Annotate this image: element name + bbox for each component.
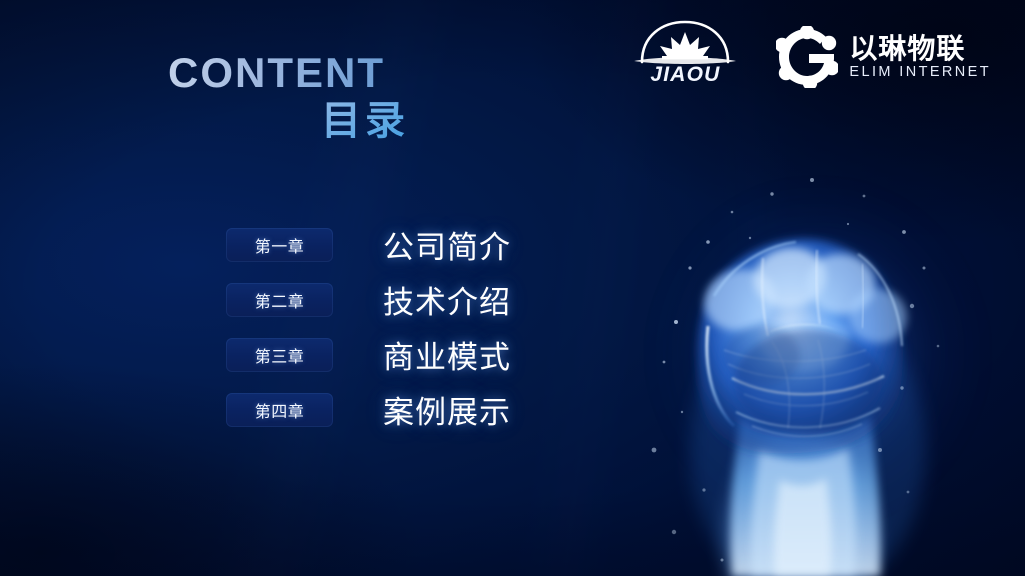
page-title-english: CONTENT [168,52,588,94]
arch-sunburst-icon [632,18,738,68]
chapter-badge-label-2: 第二章 [255,288,305,312]
chapter-badge-4[interactable]: 第四章 [226,393,333,427]
logo-elim-name-en: ELIM INTERNET [849,65,991,80]
logo-elim-name-cn: 以琳物联 [849,35,991,63]
slide-heading: CONTENT 目录 [168,52,588,142]
chapter-badge-1[interactable]: 第一章 [226,228,333,262]
chapter-badge-3[interactable]: 第三章 [226,338,333,372]
chapter-badge-label-1: 第一章 [255,233,305,257]
toc-item-1[interactable]: 第一章 公司简介 [226,217,511,272]
table-of-contents: 第一章 公司简介 第二章 技术介绍 第三章 商业模式 第四章 案例展示 [226,217,511,437]
chapter-title-2[interactable]: 技术介绍 [383,277,511,322]
logo-jiaou: JIAOU [632,18,738,96]
molecular-g-icon [776,26,838,88]
logo-elim: 以琳物联 ELIM INTERNET [776,26,991,88]
toc-item-3[interactable]: 第三章 商业模式 [226,327,511,382]
logo-jiaou-wordmark: JIAOU [632,63,738,87]
chapter-badge-label-4: 第四章 [255,398,305,422]
chapter-badge-label-3: 第三章 [255,343,305,367]
page-title-chinese: 目录 [168,100,588,142]
chapter-badge-2[interactable]: 第二章 [226,283,333,317]
toc-item-2[interactable]: 第二章 技术介绍 [226,272,511,327]
logo-bar: JIAOU 以琳物联 ELIM INTERNET [632,18,991,96]
logo-elim-text: 以琳物联 ELIM INTERNET [849,35,991,80]
toc-item-4[interactable]: 第四章 案例展示 [226,382,511,437]
chapter-title-1[interactable]: 公司简介 [383,222,511,267]
chapter-title-4[interactable]: 案例展示 [383,387,511,432]
presentation-slide: CONTENT 目录 JIAOU [0,0,1025,576]
chapter-title-3[interactable]: 商业模式 [383,332,511,377]
